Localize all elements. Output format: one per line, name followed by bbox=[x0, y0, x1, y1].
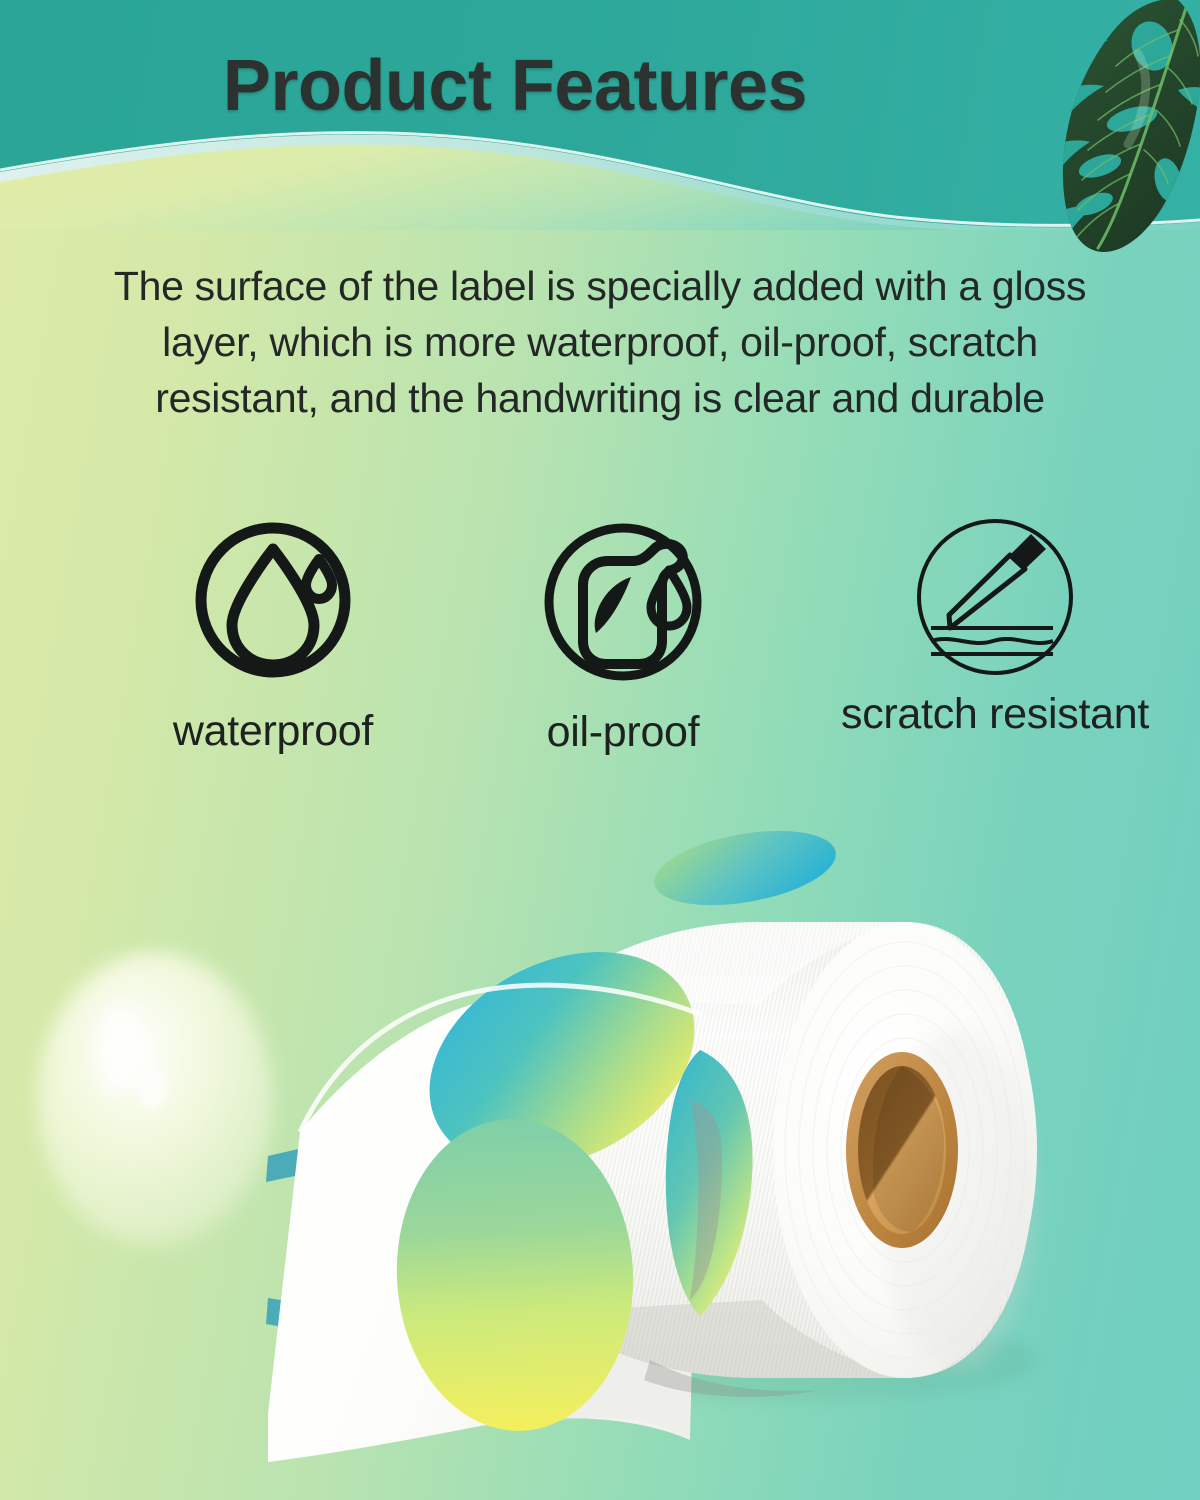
product-scene bbox=[0, 800, 1200, 1500]
water-drop-icon bbox=[188, 515, 358, 685]
feature-label-waterproof: waterproof bbox=[173, 707, 373, 756]
gloss-highlight-blob bbox=[37, 952, 273, 1248]
page-title: Product Features bbox=[0, 50, 1030, 122]
cardboard-core bbox=[846, 1052, 958, 1248]
thermal-label-roll-illustration bbox=[0, 800, 1200, 1500]
header-band: Product Features bbox=[0, 0, 1200, 230]
oil-bottle-icon bbox=[536, 515, 711, 690]
blade-scratch-icon bbox=[913, 515, 1078, 680]
feature-item-oilproof: oil-proof bbox=[483, 515, 763, 757]
feature-label-oilproof: oil-proof bbox=[547, 708, 700, 757]
feature-item-scratch: scratch resistant bbox=[800, 515, 1190, 739]
feature-item-waterproof: waterproof bbox=[133, 515, 413, 756]
feature-label-scratch: scratch resistant bbox=[841, 690, 1149, 739]
intro-paragraph: The surface of the label is specially ad… bbox=[95, 258, 1105, 426]
features-row: waterproof oil-proof bbox=[0, 515, 1200, 770]
product-features-infographic: Product Features bbox=[0, 0, 1200, 1500]
